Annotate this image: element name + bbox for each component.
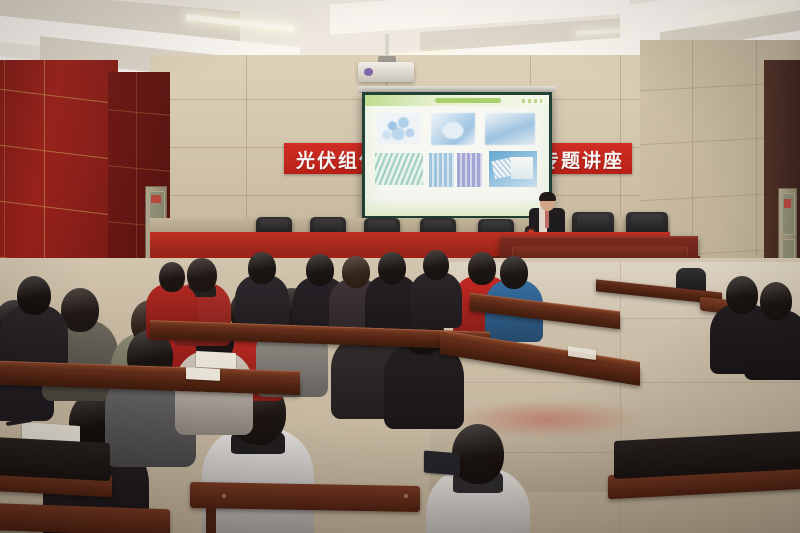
banner-text-right: 专题讲座 — [540, 146, 624, 173]
attendee-right-row3 — [426, 424, 530, 533]
person-head — [17, 276, 51, 315]
slide-tile-solar-farm-array — [375, 153, 423, 185]
person-torso — [744, 310, 800, 380]
person-head — [159, 262, 185, 292]
person-head — [500, 256, 529, 289]
slide-tile-pv-cell-purple — [457, 153, 482, 187]
tablet-device — [424, 450, 460, 475]
person-head — [760, 282, 793, 320]
presentation-slide — [365, 95, 549, 216]
auditorium-photo: 光伏组件 专题讲座 — [0, 0, 800, 533]
attendee-row1-center-dark — [410, 250, 462, 336]
slide-tile-silicon-wafer-stack — [485, 113, 535, 145]
attendee-right-dark-b — [744, 282, 800, 390]
person-torso — [410, 272, 462, 328]
notebook-1 — [196, 351, 236, 369]
chair-leg-center — [206, 508, 216, 533]
presenter-tie — [545, 210, 549, 228]
notebook-3 — [186, 367, 220, 381]
person-head — [248, 252, 275, 284]
projector-lens-icon — [364, 68, 373, 76]
slide-header-dots-icon — [522, 99, 542, 103]
slide-tile-wafer-fan-photo — [489, 151, 537, 187]
slide-tile-polysilicon-chunks — [377, 113, 421, 145]
presenter-hair — [539, 192, 556, 201]
slide-tile-silicon-ingot — [431, 113, 475, 145]
slide-footer-bar — [365, 200, 549, 216]
person-head — [423, 250, 449, 280]
person-head — [378, 252, 405, 284]
front-seatback-left — [0, 437, 110, 481]
projection-screen — [362, 92, 552, 219]
slide-title-accent — [435, 98, 501, 103]
slide-tile-pv-cell-blue — [429, 153, 454, 187]
